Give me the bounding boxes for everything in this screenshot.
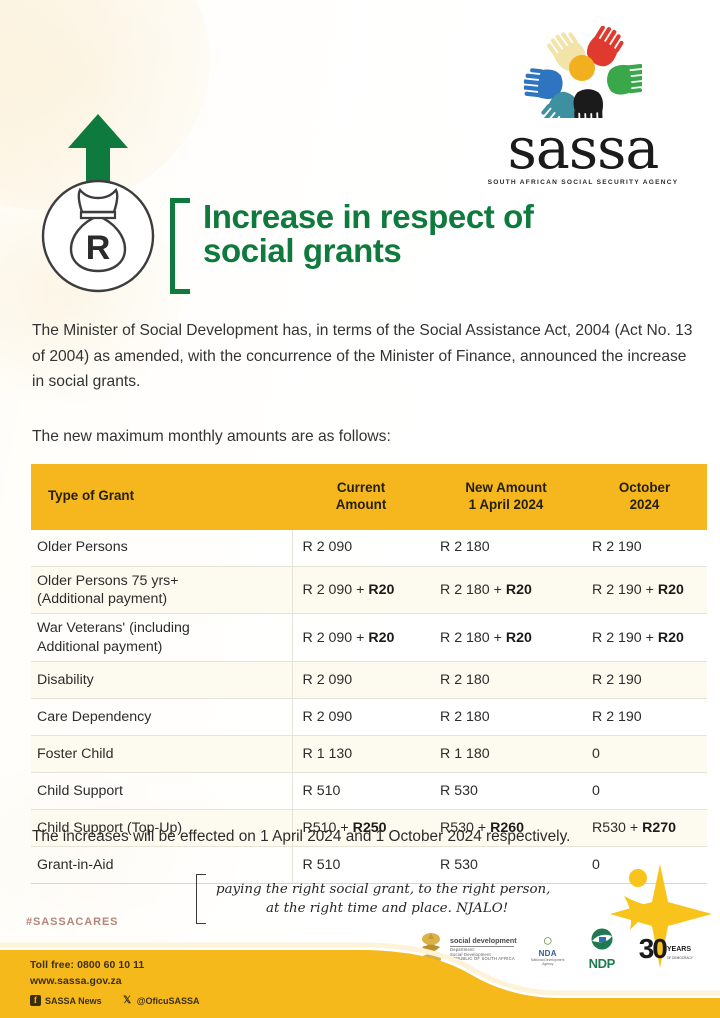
tagline-line1: paying the right social grant, to the ri… bbox=[216, 882, 550, 897]
table-header-row: Type of Grant Current Amount New Amount … bbox=[31, 464, 707, 530]
footer-x[interactable]: 𝕏 @OficuSASSA bbox=[122, 995, 200, 1006]
cell-current-amount: R 2 090 bbox=[292, 530, 430, 567]
cell-april-amount: R 530 bbox=[430, 773, 582, 810]
cell-grant-type: Child Support bbox=[31, 773, 292, 810]
x-label[interactable]: @OficuSASSA bbox=[137, 996, 200, 1006]
column-header-current-amount: Current Amount bbox=[292, 464, 430, 530]
table-row: Child Support R 510 R 530 0 bbox=[31, 773, 707, 810]
money-bag-up-arrow-icon: R bbox=[26, 104, 176, 294]
table-row: War Veterans' (including Additional paym… bbox=[31, 614, 707, 662]
cell-october-amount: R 2 190 bbox=[582, 699, 707, 736]
column-header-type-of-grant: Type of Grant bbox=[31, 464, 292, 530]
six-hands-circle-icon bbox=[524, 26, 642, 118]
tagline-block: paying the right social grant, to the ri… bbox=[196, 874, 550, 924]
cell-october-amount: 0 bbox=[582, 736, 707, 773]
facebook-icon[interactable]: f bbox=[30, 995, 41, 1006]
facebook-label[interactable]: SASSA News bbox=[45, 996, 102, 1006]
grant-amounts-table: Type of Grant Current Amount New Amount … bbox=[31, 464, 690, 884]
cell-current-amount: R 2 090 + R20 bbox=[292, 566, 430, 614]
effective-date-note: The increases will be effected on 1 Apri… bbox=[32, 828, 694, 846]
tagline-bracket-icon bbox=[196, 874, 206, 924]
intro-lead-in: The new maximum monthly amounts are as f… bbox=[32, 424, 694, 450]
cell-october-amount: R 2 190 bbox=[582, 662, 707, 699]
svg-text:R: R bbox=[86, 229, 111, 267]
table-row: Older Persons R 2 090 R 2 180 R 2 190 bbox=[31, 530, 707, 567]
cell-grant-type: Foster Child bbox=[31, 736, 292, 773]
cell-october-amount: R 2 190 bbox=[582, 530, 707, 567]
cell-april-amount: R 2 180 bbox=[430, 699, 582, 736]
intro-paragraph: The Minister of Social Development has, … bbox=[32, 318, 694, 395]
cell-grant-type: War Veterans' (including Additional paym… bbox=[31, 614, 292, 662]
x-twitter-icon[interactable]: 𝕏 bbox=[122, 995, 133, 1006]
cell-current-amount: R 2 090 + R20 bbox=[292, 614, 430, 662]
footer-tollfree: Toll free: 0800 60 10 11 bbox=[30, 958, 199, 974]
cell-october-amount: R 2 190 + R20 bbox=[582, 614, 707, 662]
cell-april-amount: R 2 180 bbox=[430, 530, 582, 567]
cell-grant-type: Care Dependency bbox=[31, 699, 292, 736]
cell-october-amount: R 2 190 + R20 bbox=[582, 566, 707, 614]
hashtag-sassacares: #SASSACARES bbox=[26, 916, 118, 928]
table-row: Care Dependency R 2 090 R 2 180 R 2 190 bbox=[31, 699, 707, 736]
cell-grant-type: Disability bbox=[31, 662, 292, 699]
cell-april-amount: R 1 180 bbox=[430, 736, 582, 773]
column-header-new-amount-april: New Amount 1 April 2024 bbox=[430, 464, 582, 530]
cell-current-amount: R 2 090 bbox=[292, 699, 430, 736]
column-header-october: October 2024 bbox=[582, 464, 707, 530]
cell-april-amount: R 2 180 + R20 bbox=[430, 614, 582, 662]
sassa-wordmark: sassa bbox=[478, 122, 688, 176]
page-title-line2: social grants bbox=[203, 234, 534, 268]
cell-grant-type: Older Persons 75 yrs+ (Additional paymen… bbox=[31, 566, 292, 614]
poster-footer: Toll free: 0800 60 10 11 www.sassa.gov.z… bbox=[0, 936, 720, 1018]
table-row: Disability R 2 090 R 2 180 R 2 190 bbox=[31, 662, 707, 699]
table-row: Older Persons 75 yrs+ (Additional paymen… bbox=[31, 566, 707, 614]
footer-website[interactable]: www.sassa.gov.za bbox=[30, 974, 199, 990]
title-bracket-icon bbox=[170, 198, 190, 294]
sassa-logo: sassa SOUTH AFRICAN SOCIAL SECURITY AGEN… bbox=[478, 26, 688, 186]
cell-current-amount: R 1 130 bbox=[292, 736, 430, 773]
poster-canvas: sassa SOUTH AFRICAN SOCIAL SECURITY AGEN… bbox=[0, 0, 720, 1018]
cell-october-amount: 0 bbox=[582, 773, 707, 810]
table-row: Foster Child R 1 130 R 1 180 0 bbox=[31, 736, 707, 773]
cell-april-amount: R 2 180 + R20 bbox=[430, 566, 582, 614]
page-title-line1: Increase in respect of bbox=[203, 200, 534, 234]
poster-header: sassa SOUTH AFRICAN SOCIAL SECURITY AGEN… bbox=[0, 0, 720, 300]
cell-grant-type: Older Persons bbox=[31, 530, 292, 567]
page-title: Increase in respect of social grants bbox=[170, 198, 534, 294]
sassa-tagline: SOUTH AFRICAN SOCIAL SECURITY AGENCY bbox=[478, 179, 688, 186]
cell-current-amount: R 2 090 bbox=[292, 662, 430, 699]
cell-current-amount: R 510 bbox=[292, 773, 430, 810]
tagline-line2: at the right time and place. NJALO! bbox=[216, 899, 550, 918]
cell-april-amount: R 2 180 bbox=[430, 662, 582, 699]
footer-facebook[interactable]: f SASSA News bbox=[30, 995, 102, 1006]
